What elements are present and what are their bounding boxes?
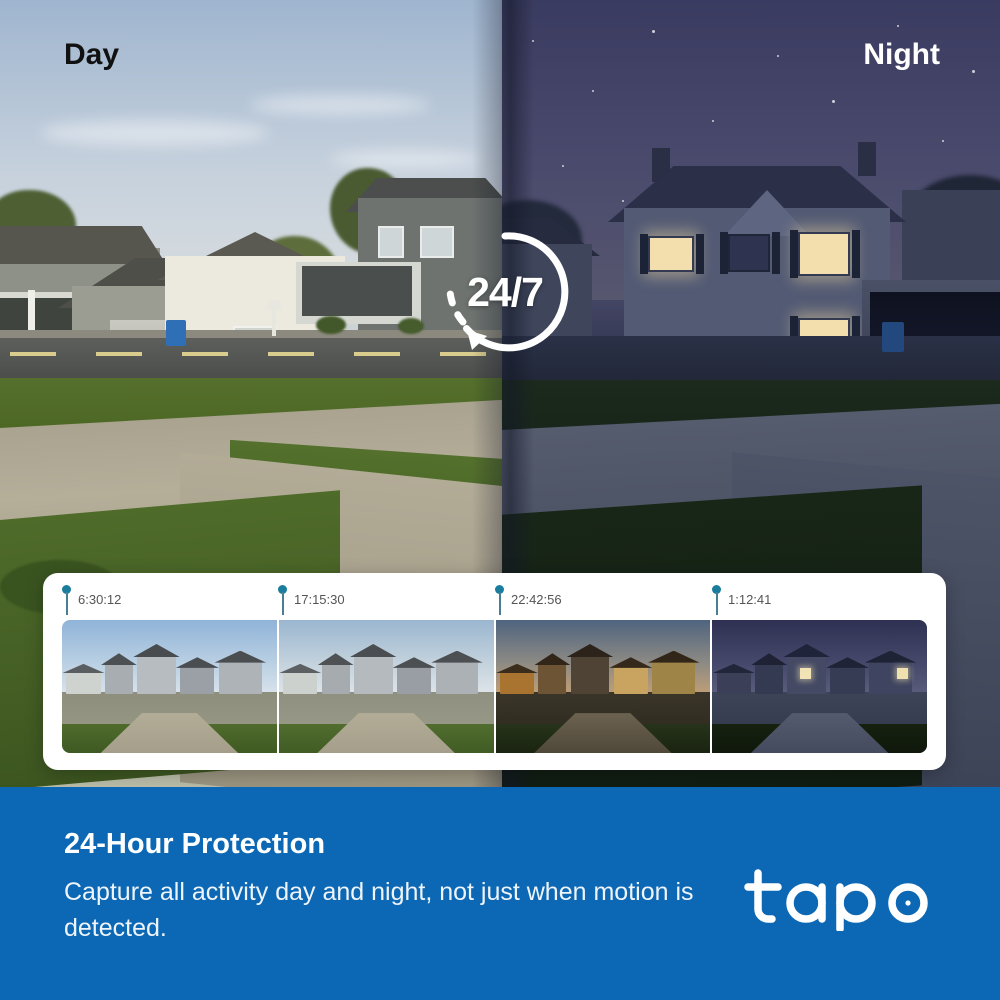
- day-label: Day: [64, 38, 119, 72]
- timeline-card[interactable]: 6:30:12 17:15:30 22:42:56 1:12:41: [43, 573, 946, 770]
- timestamp-label: 17:15:30: [294, 585, 345, 608]
- lane-marking: [354, 352, 400, 356]
- star: [562, 165, 564, 167]
- street: [0, 338, 502, 378]
- tapo-logo: [744, 865, 948, 931]
- timeline-tick[interactable]: 1:12:41: [712, 585, 771, 615]
- lane-marking: [268, 352, 314, 356]
- star: [942, 140, 944, 142]
- thumbnail-strip: [62, 620, 927, 753]
- timeline-tick[interactable]: 17:15:30: [278, 585, 345, 615]
- mailbox: [272, 308, 276, 336]
- timestamp-label: 1:12:41: [728, 585, 771, 608]
- street: [502, 336, 1000, 382]
- mailbox: [268, 300, 281, 309]
- timeline-ticks: 6:30:12 17:15:30 22:42:56 1:12:41: [43, 573, 946, 617]
- pin-marker-icon: [712, 585, 721, 615]
- timeline-tick[interactable]: 6:30:12: [62, 585, 121, 615]
- badge-label: 24/7: [441, 228, 569, 356]
- timeline-thumbnail[interactable]: [712, 620, 927, 753]
- star: [712, 120, 714, 122]
- cloud: [330, 150, 480, 168]
- lit-window: [798, 232, 850, 276]
- timestamp-label: 6:30:12: [78, 585, 121, 608]
- cloud: [40, 120, 270, 146]
- timeline-thumbnail[interactable]: [279, 620, 496, 753]
- pin-marker-icon: [278, 585, 287, 615]
- circular-arrow-icon: 24/7: [441, 228, 569, 356]
- pin-marker-icon: [495, 585, 504, 615]
- timeline-tick[interactable]: 22:42:56: [495, 585, 562, 615]
- star: [897, 25, 899, 27]
- lit-window: [648, 236, 694, 272]
- bush: [316, 316, 346, 334]
- lane-marking: [10, 352, 56, 356]
- bush: [398, 318, 424, 334]
- star: [592, 90, 594, 92]
- star: [972, 70, 975, 73]
- pin-marker-icon: [62, 585, 71, 615]
- star: [777, 55, 779, 57]
- cloud: [250, 95, 430, 115]
- lane-marking: [182, 352, 228, 356]
- star: [832, 100, 835, 103]
- night-label: Night: [863, 38, 940, 72]
- recycling-bin: [166, 320, 186, 346]
- star: [532, 40, 534, 42]
- bottom-banner: 24-Hour Protection Capture all activity …: [0, 787, 1000, 1000]
- recycling-bin: [882, 322, 904, 352]
- lit-window: [800, 668, 811, 679]
- timeline-thumbnail[interactable]: [62, 620, 279, 753]
- star: [652, 30, 655, 33]
- timeline-thumbnail[interactable]: [496, 620, 713, 753]
- timestamp-label: 22:42:56: [511, 585, 562, 608]
- lane-marking: [96, 352, 142, 356]
- promo-poster: 24/7 Day Night 6:30:12 17:15:30 22:42:56…: [0, 0, 1000, 1000]
- banner-subtext: Capture all activity day and night, not …: [64, 875, 704, 946]
- window: [728, 234, 770, 272]
- banner-headline: 24-Hour Protection: [64, 828, 325, 861]
- lit-window: [897, 668, 908, 679]
